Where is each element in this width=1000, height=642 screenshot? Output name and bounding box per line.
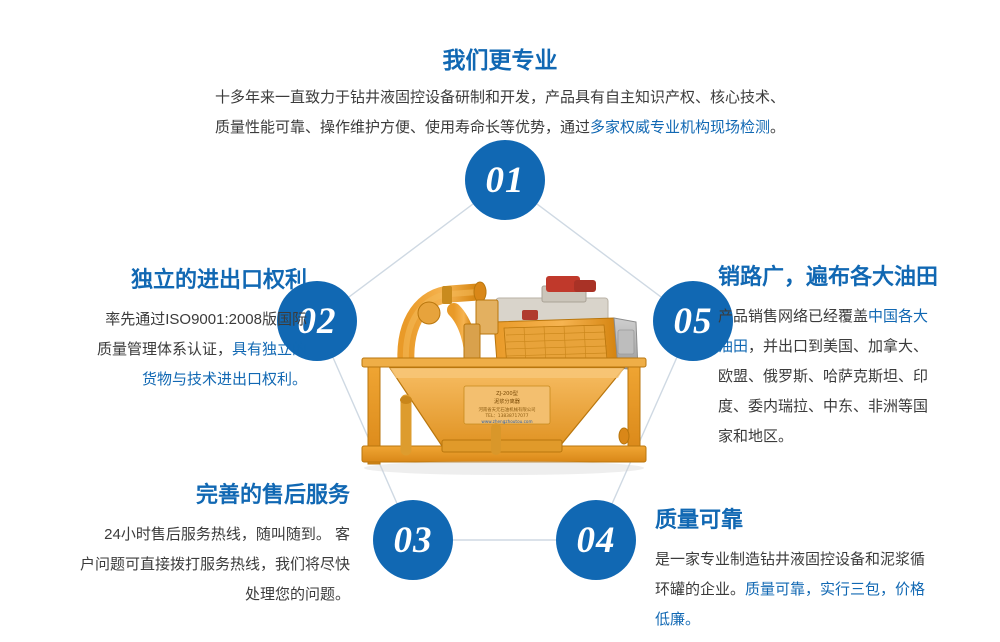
feature-right5-line1-highlight: 中国各大 bbox=[868, 308, 928, 325]
feature-right5-heading: 销路广，遍布各大油田 bbox=[718, 262, 988, 292]
feature-right4-line3: 低廉。 bbox=[655, 605, 975, 635]
badge-04-label: 04 bbox=[577, 519, 616, 562]
feature-right4-line2-highlight: 质量可靠，实行三包，价格 bbox=[745, 581, 925, 598]
feature-right5-line5: 家和地区。 bbox=[718, 422, 988, 452]
badge-03: 03 bbox=[373, 500, 453, 580]
feature-right5-line1: 产品销售网络已经覆盖中国各大 bbox=[718, 302, 988, 332]
feature-right5-line1-part1: 产品销售网络已经覆盖 bbox=[718, 308, 868, 325]
feature-left2-heading: 独立的进出口权利 bbox=[22, 265, 307, 295]
feature-right5-line2: 油田，并出口到美国、加拿大、 bbox=[718, 332, 988, 362]
feature-top-line2: 质量性能可靠、操作维护方便、使用寿命长等优势，通过多家权威专业机构现场检测。 bbox=[150, 113, 850, 143]
feature-left2-line2-part1: 质量管理体系认证， bbox=[97, 341, 232, 358]
feature-right5-body: 产品销售网络已经覆盖中国各大 油田，并出口到美国、加拿大、 欧盟、俄罗斯、哈萨克… bbox=[718, 302, 988, 452]
feature-left2-line1: 率先通过ISO9001:2008版国际 bbox=[22, 305, 307, 335]
feature-left2-line2-highlight: 具有独立的 bbox=[232, 341, 307, 358]
feature-right5-line4: 度、委内瑞拉、中东、非洲等国 bbox=[718, 392, 988, 422]
feature-left3-line1: 24小时售后服务热线，随叫随到。 客 bbox=[20, 520, 350, 550]
feature-block-left-03: 完善的售后服务 24小时售后服务热线，随叫随到。 客 户问题可直接拨打服务热线，… bbox=[20, 480, 350, 610]
feature-top-line2-part1: 质量性能可靠、操作维护方便、使用寿命长等优势，通过 bbox=[215, 119, 590, 136]
feature-right5-line2-part2: ，并出口到美国、加拿大、 bbox=[748, 338, 928, 355]
badge-01: 01 bbox=[465, 140, 545, 220]
badge-01-label: 01 bbox=[486, 159, 525, 202]
feature-top-line2-highlight: 多家权威专业机构现场检测 bbox=[590, 119, 770, 136]
feature-top-heading: 我们更专业 bbox=[150, 45, 850, 75]
feature-left3-line2: 户问题可直接拨打服务热线，我们将尽快 bbox=[20, 550, 350, 580]
feature-top-line1: 十多年来一直致力于钻井液固控设备研制和开发，产品具有自主知识产权、核心技术、 bbox=[150, 83, 850, 113]
svg-text:ZJ-200型: ZJ-200型 bbox=[496, 389, 518, 397]
badge-04: 04 bbox=[556, 500, 636, 580]
feature-left2-line2: 质量管理体系认证，具有独立的 bbox=[22, 335, 307, 365]
infographic-page: ZJ-200型 泥浆分离器 河南省天元石油机械有限公司 TEL：13838717… bbox=[0, 0, 1000, 642]
feature-left2-body: 率先通过ISO9001:2008版国际 质量管理体系认证，具有独立的 货物与技术… bbox=[22, 305, 307, 395]
feature-left3-line3: 处理您的问题。 bbox=[20, 580, 350, 610]
feature-right4-heading: 质量可靠 bbox=[655, 505, 975, 535]
feature-block-top: 我们更专业 十多年来一直致力于钻井液固控设备研制和开发，产品具有自主知识产权、核… bbox=[150, 45, 850, 143]
badge-03-label: 03 bbox=[394, 519, 433, 562]
svg-text:河南省天元石油机械有限公司: 河南省天元石油机械有限公司 bbox=[478, 406, 535, 413]
feature-right4-line2-part1: 环罐的企业。 bbox=[655, 581, 745, 598]
feature-right5-line2-highlight: 油田 bbox=[718, 338, 748, 355]
feature-right4-line1: 是一家专业制造钻井液固控设备和泥浆循 bbox=[655, 545, 975, 575]
feature-right5-line3: 欧盟、俄罗斯、哈萨克斯坦、印 bbox=[718, 362, 988, 392]
machine-photo: ZJ-200型 泥浆分离器 河南省天元石油机械有限公司 TEL：13838717… bbox=[346, 250, 656, 485]
feature-left3-body: 24小时售后服务热线，随叫随到。 客 户问题可直接拨打服务热线，我们将尽快 处理… bbox=[20, 520, 350, 610]
feature-left3-heading: 完善的售后服务 bbox=[20, 480, 350, 510]
feature-right4-line2: 环罐的企业。质量可靠，实行三包，价格 bbox=[655, 575, 975, 605]
svg-text:www.zhengzhoutou.com: www.zhengzhoutou.com bbox=[481, 419, 532, 424]
feature-right4-body: 是一家专业制造钻井液固控设备和泥浆循 环罐的企业。质量可靠，实行三包，价格 低廉… bbox=[655, 545, 975, 635]
badge-05-label: 05 bbox=[674, 300, 713, 343]
feature-block-right-04: 质量可靠 是一家专业制造钻井液固控设备和泥浆循 环罐的企业。质量可靠，实行三包，… bbox=[655, 505, 975, 635]
feature-block-right-05: 销路广，遍布各大油田 产品销售网络已经覆盖中国各大 油田，并出口到美国、加拿大、… bbox=[718, 262, 988, 452]
feature-top-body: 十多年来一直致力于钻井液固控设备研制和开发，产品具有自主知识产权、核心技术、 质… bbox=[150, 83, 850, 143]
feature-block-left-02: 独立的进出口权利 率先通过ISO9001:2008版国际 质量管理体系认证，具有… bbox=[22, 265, 307, 395]
feature-top-line2-part2: 。 bbox=[770, 119, 785, 136]
svg-text:泥浆分离器: 泥浆分离器 bbox=[494, 397, 521, 405]
feature-left2-line3: 货物与技术进出口权利。 bbox=[22, 365, 307, 395]
